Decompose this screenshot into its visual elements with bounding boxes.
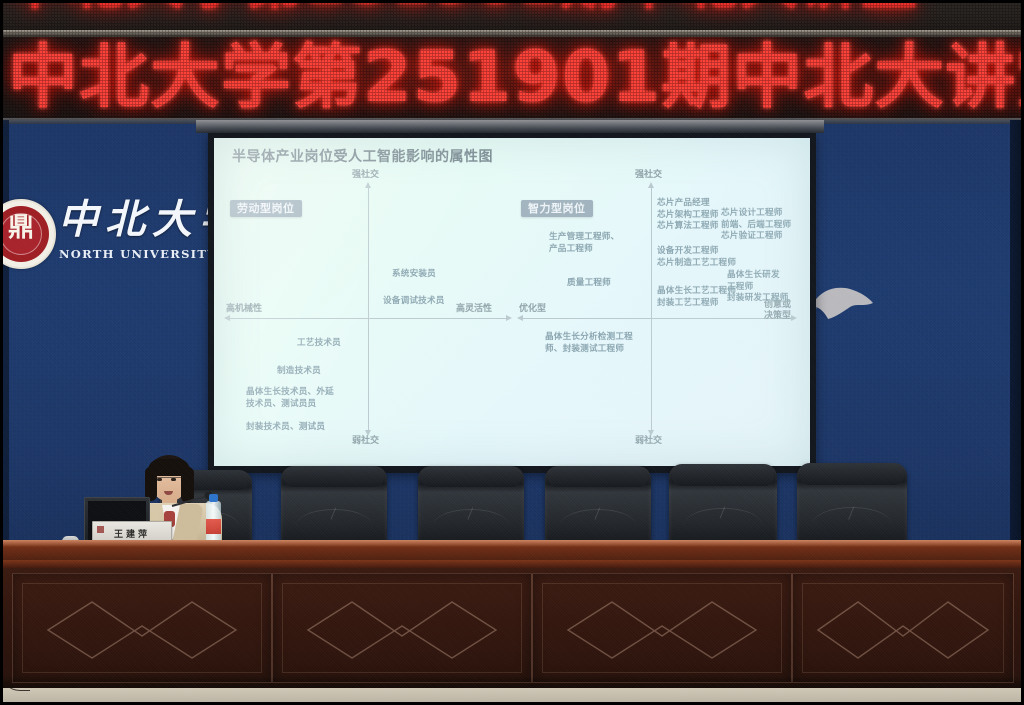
right-chart-item-6: 晶体生长研发 工程师 封装研发工程师 — [727, 270, 801, 305]
right-chart-axis-arrow-right — [791, 315, 797, 321]
right-chart-item-5: 晶体生长工艺工程师 封装工艺工程师 — [657, 286, 736, 309]
right-chart-item-2: 芯片产品经理 芯片架构工程师 芯片算法工程师 — [657, 198, 719, 233]
chair-3 — [545, 466, 651, 548]
chair-1 — [281, 466, 387, 548]
stage-floor — [0, 688, 1024, 705]
chair-4 — [669, 464, 777, 548]
left-chart-horizontal-axis — [230, 318, 506, 319]
right-chart-item-0: 生产管理工程师、产品工程师 — [549, 232, 627, 255]
chair-2 — [418, 466, 524, 548]
led-banner-top-text: 中北大学第251901期中北大讲堂 — [6, 0, 920, 12]
right-chart-axis-arrow-left — [517, 315, 523, 321]
right-chart-axis-label-bottom: 弱社交 — [635, 436, 662, 447]
led-banner: 中北大学第251901期中北大讲堂 中北大学第251901期中北大讲堂 — [0, 0, 1024, 120]
seal-glyph: 鼎 — [0, 215, 54, 241]
projector-screen-roller — [196, 120, 824, 133]
wall-right-edge — [1010, 120, 1024, 588]
left-chart-axis-arrow-right — [506, 315, 512, 321]
led-banner-main-row: 中北大学第251901期中北大讲堂 — [0, 37, 1024, 120]
left-chart-item-3: 制造技术员 — [277, 366, 321, 378]
led-banner-main-text: 中北大学第251901期中北大讲堂 — [8, 39, 1024, 115]
left-chart-item-2: 工艺技术员 — [297, 338, 341, 350]
desk-panel-4 — [792, 573, 1014, 683]
university-logo: 鼎 中北大学 NORTH UNIVERSITY OF CHINA — [0, 193, 236, 289]
desk-top-gloss — [0, 540, 1024, 547]
led-panel-seam — [0, 30, 1024, 37]
left-chart-axis-label-bottom: 弱社交 — [352, 436, 379, 447]
slide-title: 半导体产业岗位受人工智能影响的属性图 — [232, 148, 493, 166]
desk-panel-1 — [12, 573, 272, 683]
right-chart-vertical-axis — [651, 188, 652, 430]
left-chart-item-0: 系统安装员 — [392, 269, 436, 281]
wall-left-edge — [0, 120, 9, 588]
left-chart-item-5: 封装技术员、测试员 — [246, 422, 325, 434]
right-chart-axis-arrow-up — [648, 182, 654, 188]
university-seal-icon: 鼎 — [0, 199, 56, 269]
right-chart-axis-label-left: 优化型 — [519, 304, 546, 315]
presentation-slide: 半导体产业岗位受人工智能影响的属性图 强社交 弱社交 高机械性 高灵活性 劳动型… — [214, 138, 810, 466]
bottle-cap — [209, 494, 218, 502]
left-chart-axis-label-left: 高机械性 — [226, 304, 262, 315]
wall-decoration-shape — [810, 277, 874, 321]
lecture-hall-photo: 中北大学第251901期中北大讲堂 中北大学第251901期中北大讲堂 鼎 中北… — [0, 0, 1024, 705]
left-chart-category-badge: 劳动型岗位 — [230, 200, 302, 217]
right-chart-item-4: 设备开发工程师 芯片制造工艺工程师 — [657, 246, 736, 269]
left-chart-axis-arrow-up — [365, 182, 371, 188]
left-chart-item-1: 设备调试技术员 — [383, 296, 445, 308]
chart-panel-intellectual-jobs: 强社交 弱社交 优化型 创意或 决策型 智力型岗位 生产管理工程师、产品工程师 … — [517, 174, 805, 459]
right-chart-item-7: 晶体生长分析检测工程师、封装测试工程师 — [545, 332, 633, 355]
speaker-eye-right — [171, 478, 176, 481]
bottle-label — [206, 519, 221, 534]
speaker-eye-left — [157, 478, 162, 481]
right-chart-item-3: 芯片设计工程师 前端、后端工程师 芯片验证工程师 — [721, 208, 795, 243]
chair-5 — [797, 463, 907, 548]
desk-panel-2 — [272, 573, 532, 683]
left-chart-axis-label-right: 高灵活性 — [456, 304, 492, 315]
led-banner-top-partial-row: 中北大学第251901期中北大讲堂 — [0, 0, 1024, 34]
desk-panel-3 — [532, 573, 792, 683]
desk-front-rail — [0, 560, 1024, 568]
left-chart-axis-label-top: 强社交 — [352, 170, 379, 181]
right-chart-item-1: 质量工程师 — [567, 278, 611, 290]
left-chart-vertical-axis — [368, 188, 369, 430]
left-chart-item-4: 晶体生长技术员、外延技术员、测试员员 — [246, 387, 334, 410]
speaker-hair-right — [181, 467, 194, 503]
right-chart-category-badge: 智力型岗位 — [521, 200, 593, 217]
right-chart-axis-label-top: 强社交 — [635, 170, 662, 181]
left-chart-axis-arrow-left — [224, 315, 230, 321]
chart-panel-labor-jobs: 强社交 弱社交 高机械性 高灵活性 劳动型岗位 系统安装员 设备调试技术员 工艺… — [224, 174, 516, 459]
